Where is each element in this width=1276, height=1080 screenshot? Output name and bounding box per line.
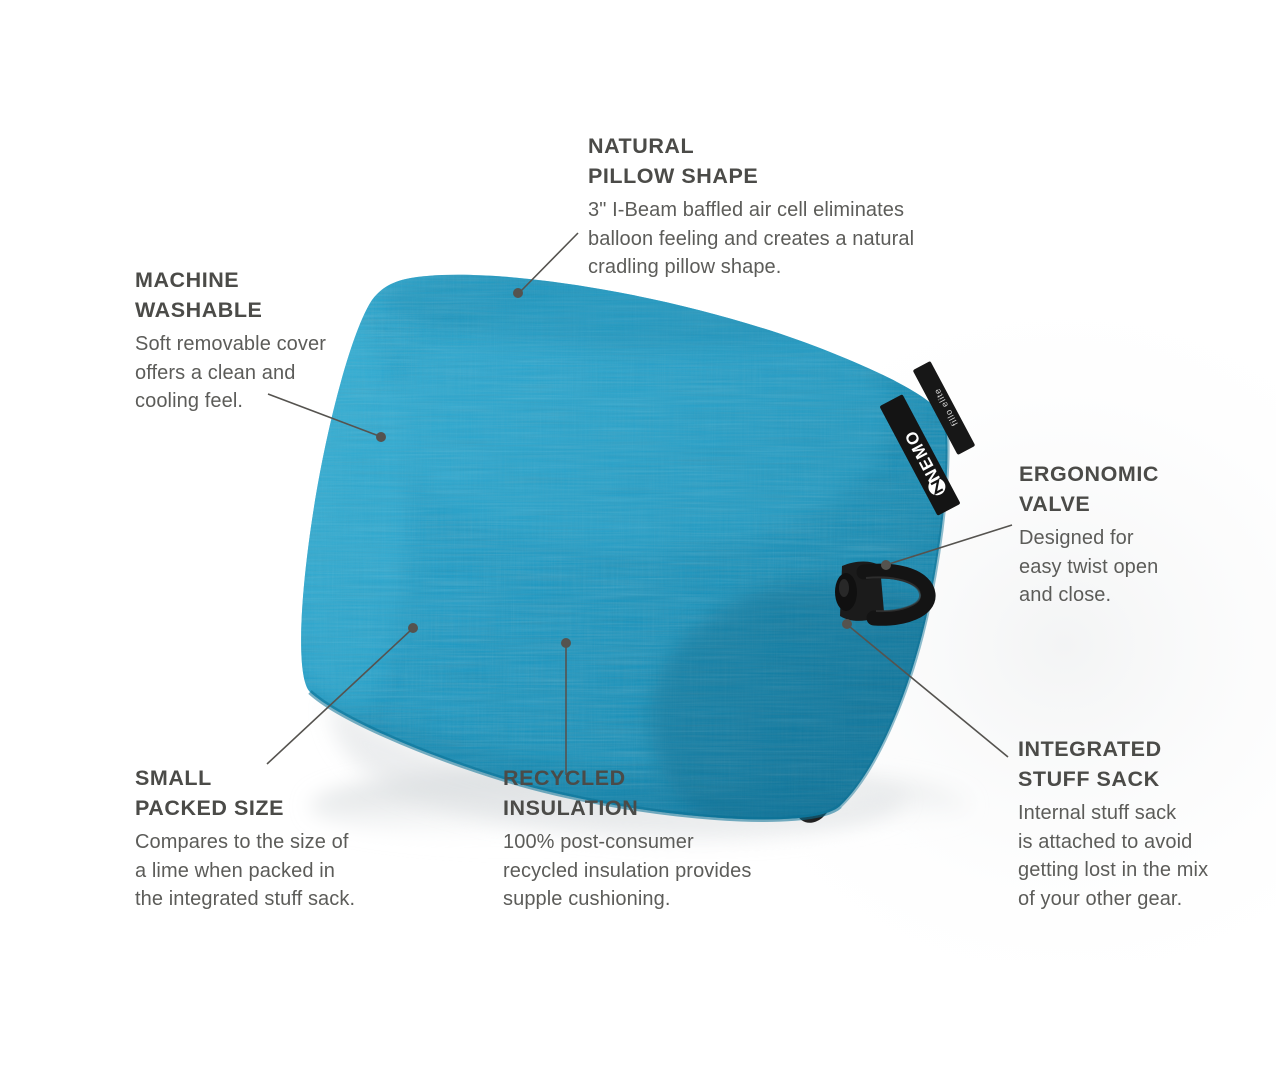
callout-title: MACHINE WASHABLE xyxy=(135,266,395,325)
callout-title: ERGONOMIC VALVE xyxy=(1019,460,1249,519)
callout-title: SMALL PACKED SIZE xyxy=(135,764,405,823)
callout-body: 3" I-Beam baffled air cell eliminates ba… xyxy=(588,196,958,282)
callout-title: RECYCLED INSULATION xyxy=(503,764,803,823)
callout-body: Internal stuff sack is attached to avoid… xyxy=(1018,799,1258,913)
callout-body: 100% post-consumer recycled insulation p… xyxy=(503,828,803,914)
callout-integrated-stuff-sack: INTEGRATED STUFF SACK Internal stuff sac… xyxy=(1018,735,1258,913)
callout-title: INTEGRATED STUFF SACK xyxy=(1018,735,1258,794)
infographic-canvas: NEMO fillo elite xyxy=(0,0,1276,1080)
callout-natural-pillow-shape: NATURAL PILLOW SHAPE 3" I-Beam baffled a… xyxy=(588,132,958,282)
callout-title: NATURAL PILLOW SHAPE xyxy=(588,132,958,191)
callout-recycled-insulation: RECYCLED INSULATION 100% post-consumer r… xyxy=(503,764,803,914)
callout-body: Soft removable cover offers a clean and … xyxy=(135,330,395,416)
callout-machine-washable: MACHINE WASHABLE Soft removable cover of… xyxy=(135,266,395,416)
callout-small-packed-size: SMALL PACKED SIZE Compares to the size o… xyxy=(135,764,405,914)
callout-body: Designed for easy twist open and close. xyxy=(1019,524,1249,610)
callout-ergonomic-valve: ERGONOMIC VALVE Designed for easy twist … xyxy=(1019,460,1249,610)
callout-body: Compares to the size of a lime when pack… xyxy=(135,828,405,914)
